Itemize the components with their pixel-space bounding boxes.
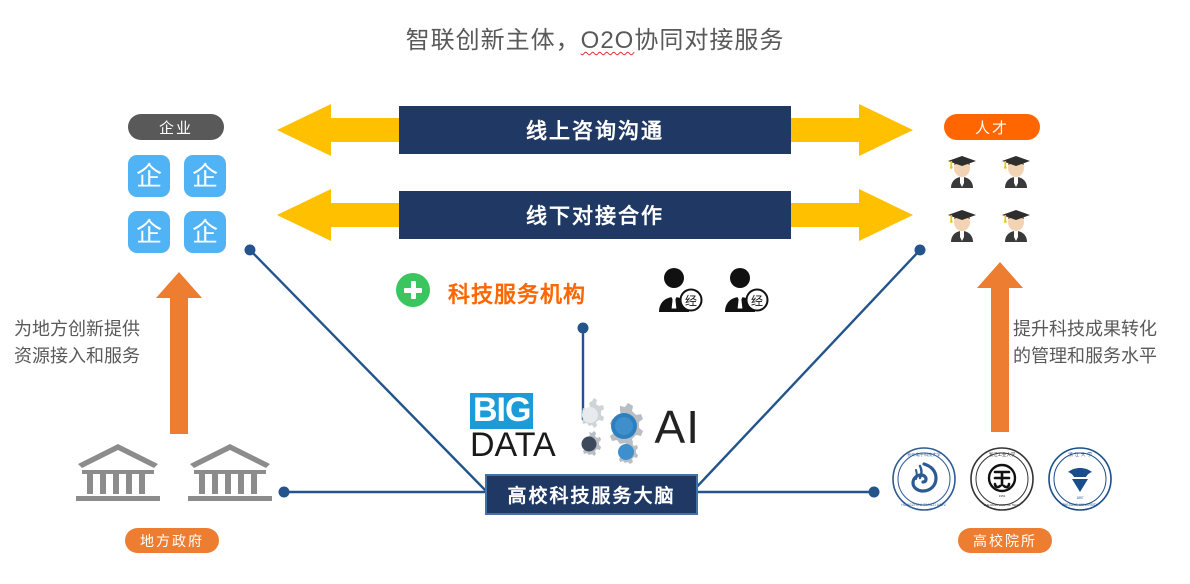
svg-text:1953: 1953 <box>999 494 1006 498</box>
page-title-post: 协同对接服务 <box>634 27 784 54</box>
org-label: 科技服务机构 <box>448 277 586 309</box>
svg-text:1897: 1897 <box>1076 496 1083 500</box>
svg-text:HANGZHOU DIANZI UNIV.: HANGZHOU DIANZI UNIV. <box>901 503 946 507</box>
enterprise-glyph: 企 <box>136 219 162 245</box>
university-logo-zhejiang-tech: 浙江工业大学 1953 ZHEJIANG UNIV. OF TECH. <box>968 446 1036 512</box>
ai-label: AI <box>655 400 700 454</box>
left-note: 为地方创新提供 资源接入和服务 <box>14 316 140 370</box>
broker-person-icon: 经 <box>655 267 703 313</box>
talent-icon-group <box>938 148 1044 252</box>
left-note-line1: 为地方创新提供 <box>14 316 140 343</box>
enterprise-icon-group: 企 企 企 企 <box>128 155 228 255</box>
left-note-line2: 资源接入和服务 <box>14 343 140 370</box>
graduate-avatar-icon <box>938 148 986 196</box>
enterprise-icon: 企 <box>184 155 226 197</box>
enterprise-glyph: 企 <box>192 219 218 245</box>
bigdata-logo: BIG DATA <box>470 393 561 461</box>
broker-icon-group: 经 经 <box>655 267 775 313</box>
flow-arrow-offline-label: 线下对接合作 <box>526 200 664 230</box>
flow-arrow-offline[interactable]: 线下对接合作 <box>277 189 913 241</box>
infographic-canvas: 智联创新主体，O2O协同对接服务 企业 企 企 企 企 人才 <box>0 0 1190 584</box>
government-building-icon <box>186 440 274 502</box>
svg-text:浙 江 大 学: 浙 江 大 学 <box>1068 451 1092 458</box>
svg-text:经: 经 <box>751 294 763 308</box>
svg-text:经: 经 <box>685 294 697 308</box>
graduate-avatar-icon <box>992 202 1040 250</box>
svg-text:ZHEJIANG UNIV. OF TECH.: ZHEJIANG UNIV. OF TECH. <box>984 503 1021 507</box>
left-up-arrow-icon <box>156 272 202 434</box>
government-building-icon <box>74 440 162 502</box>
badge-enterprise[interactable]: 企业 <box>128 114 224 140</box>
badge-talent[interactable]: 人才 <box>944 114 1040 140</box>
right-note: 提升科技成果转化 的管理和服务水平 <box>1013 316 1157 370</box>
flow-arrow-online[interactable]: 线上咨询沟通 <box>277 104 913 156</box>
badge-government-label: 地方政府 <box>140 531 204 551</box>
page-title-pre: 智联创新主体， <box>406 27 581 54</box>
page-title-highlight: O2O <box>581 27 635 54</box>
graduate-avatar-icon <box>938 202 986 250</box>
badge-universities-label: 高校院所 <box>973 531 1037 551</box>
brain-box[interactable]: 高校科技服务大脑 <box>485 474 698 515</box>
flow-arrow-online-label-box: 线上咨询沟通 <box>399 106 791 154</box>
university-logo-zhejiang: 浙 江 大 学 1897 ZHEJIANG UNIVERSITY <box>1046 446 1114 512</box>
flow-arrow-offline-label-box: 线下对接合作 <box>399 191 791 239</box>
right-note-line1: 提升科技成果转化 <box>1013 316 1157 343</box>
enterprise-icon: 企 <box>128 211 170 253</box>
svg-text:浙江工业大学: 浙江工业大学 <box>989 451 1016 458</box>
enterprise-icon: 企 <box>184 211 226 253</box>
plus-icon[interactable] <box>396 273 430 307</box>
svg-text:ZHEJIANG UNIVERSITY: ZHEJIANG UNIVERSITY <box>1062 503 1099 507</box>
enterprise-glyph: 企 <box>136 163 162 189</box>
enterprise-glyph: 企 <box>192 163 218 189</box>
page-title: 智联创新主体，O2O协同对接服务 <box>0 20 1190 55</box>
enterprise-icon: 企 <box>128 155 170 197</box>
broker-person-icon: 经 <box>721 267 769 313</box>
brain-box-label: 高校科技服务大脑 <box>507 481 675 508</box>
badge-talent-label: 人才 <box>975 117 1009 138</box>
government-icon-group <box>74 440 274 502</box>
gears-icon <box>565 396 651 458</box>
flow-arrow-online-label: 线上咨询沟通 <box>526 115 664 145</box>
graduate-avatar-icon <box>992 148 1040 196</box>
tech-stack-group: BIG DATA AI <box>470 396 700 458</box>
badge-enterprise-label: 企业 <box>159 117 193 138</box>
bigdata-top-text: BIG <box>470 393 533 428</box>
badge-universities[interactable]: 高校院所 <box>958 528 1052 553</box>
bigdata-bottom-text: DATA <box>470 429 556 461</box>
university-logo-group: 杭州电子科技大学 HANGZHOU DIANZI UNIV. 浙江工业大学 19… <box>890 446 1140 512</box>
university-logo-hangzhou-dianzi: 杭州电子科技大学 HANGZHOU DIANZI UNIV. <box>890 446 958 512</box>
right-note-line2: 的管理和服务水平 <box>1013 343 1157 370</box>
svg-text:杭州电子科技大学: 杭州电子科技大学 <box>907 451 941 458</box>
badge-government[interactable]: 地方政府 <box>125 528 219 553</box>
